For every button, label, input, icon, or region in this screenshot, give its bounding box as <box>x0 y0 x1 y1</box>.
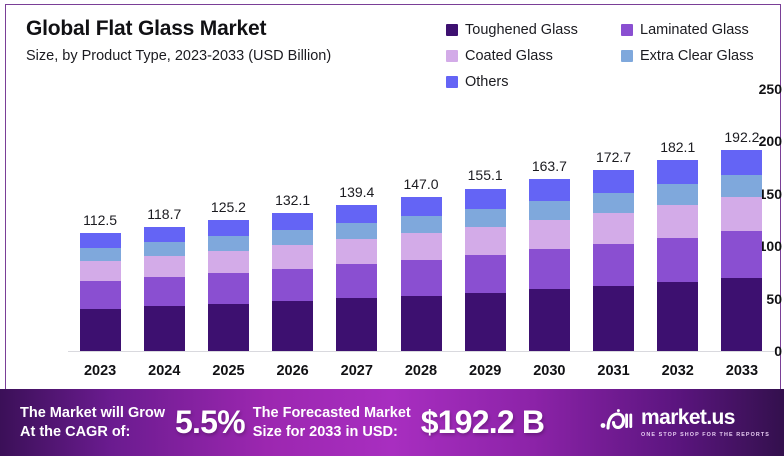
bar-segment-4 <box>336 205 377 223</box>
bar-segment-0 <box>144 306 185 351</box>
x-axis-tick-2032: 2032 <box>646 363 710 379</box>
bar-segment-0 <box>336 298 377 351</box>
bar-segment-2 <box>336 239 377 264</box>
bar-group-2028[interactable]: 147.0 <box>401 197 442 351</box>
x-axis-tick-2026: 2026 <box>261 363 325 379</box>
bar-group-2033[interactable]: 192.2 <box>721 150 762 351</box>
market-us-logo-text: market.us <box>641 406 735 429</box>
x-axis-tick-2033: 2033 <box>710 363 774 379</box>
chart-screenshot: Global Flat Glass Market Size, by Produc… <box>0 0 784 456</box>
bar-segment-1 <box>401 260 442 296</box>
bar-segment-2 <box>657 205 698 237</box>
bar-stack <box>80 233 121 351</box>
bar-segment-4 <box>529 179 570 201</box>
bar-group-2026[interactable]: 132.1 <box>272 213 313 351</box>
bar-stack <box>721 150 762 351</box>
bar-total-label: 163.7 <box>532 158 567 174</box>
bar-segment-1 <box>721 231 762 278</box>
bar-total-label: 139.4 <box>339 184 374 200</box>
x-axis-tick-2024: 2024 <box>132 363 196 379</box>
x-axis-line <box>68 351 774 352</box>
bar-group-2025[interactable]: 125.2 <box>208 220 249 351</box>
bar-stack <box>144 227 185 351</box>
bar-stack <box>593 170 634 351</box>
bar-segment-0 <box>721 278 762 351</box>
bar-segment-3 <box>529 201 570 220</box>
bar-segment-1 <box>657 238 698 283</box>
bar-total-label: 112.5 <box>83 212 117 228</box>
market-us-logo[interactable]: market.us ONE STOP SHOP FOR THE REPORTS <box>599 407 770 438</box>
x-axis-tick-2028: 2028 <box>389 363 453 379</box>
bar-group-2031[interactable]: 172.7 <box>593 170 634 351</box>
bar-segment-2 <box>593 213 634 244</box>
bar-total-label: 125.2 <box>211 199 246 215</box>
bar-segment-0 <box>593 286 634 351</box>
bar-segment-1 <box>144 277 185 306</box>
plot-area: 050100150200250 112.5118.7125.2132.1139.… <box>6 5 782 389</box>
footer-banner: The Market will Grow At the CAGR of: 5.5… <box>0 389 784 456</box>
bar-segment-3 <box>80 248 121 261</box>
bar-total-label: 192.2 <box>724 129 759 145</box>
bar-group-2023[interactable]: 112.5 <box>80 233 121 351</box>
market-us-logo-textblock: market.us ONE STOP SHOP FOR THE REPORTS <box>641 407 770 438</box>
bar-segment-4 <box>657 160 698 184</box>
bar-group-2024[interactable]: 118.7 <box>144 227 185 351</box>
bar-segment-4 <box>721 150 762 175</box>
bar-segment-4 <box>272 213 313 230</box>
bar-segment-1 <box>272 269 313 301</box>
bar-segment-4 <box>401 197 442 216</box>
x-axis-tick-2025: 2025 <box>196 363 260 379</box>
bar-segment-1 <box>80 281 121 309</box>
bar-segment-3 <box>272 230 313 245</box>
bar-group-2027[interactable]: 139.4 <box>336 205 377 351</box>
bar-segment-4 <box>208 220 249 236</box>
bar-segment-3 <box>401 216 442 233</box>
bar-segment-2 <box>80 261 121 281</box>
bar-segment-2 <box>465 227 506 255</box>
forecast-value: $192.2 B <box>421 404 544 441</box>
cagr-label-line2: At the CAGR of: <box>20 423 165 442</box>
bar-segment-2 <box>721 197 762 231</box>
bar-segment-1 <box>336 264 377 298</box>
bar-segment-0 <box>80 309 121 351</box>
bar-segment-1 <box>465 255 506 293</box>
bar-segment-2 <box>401 233 442 259</box>
forecast-label-line2: Size for 2033 in USD: <box>253 423 411 442</box>
bar-segment-4 <box>80 233 121 248</box>
market-us-logo-tagline: ONE STOP SHOP FOR THE REPORTS <box>641 432 770 438</box>
bar-segment-2 <box>208 251 249 273</box>
bar-segment-2 <box>529 220 570 249</box>
bar-segment-3 <box>657 184 698 205</box>
bar-stack <box>657 160 698 351</box>
bar-segment-2 <box>144 256 185 277</box>
x-axis-tick-2023: 2023 <box>68 363 132 379</box>
bar-stack <box>401 197 442 351</box>
bar-segment-0 <box>208 304 249 351</box>
bar-segment-2 <box>272 245 313 269</box>
bar-stack <box>272 213 313 351</box>
bar-segment-0 <box>529 289 570 351</box>
bar-segment-1 <box>208 273 249 304</box>
bar-segment-0 <box>401 296 442 351</box>
bar-total-label: 132.1 <box>275 192 310 208</box>
bar-segment-0 <box>657 282 698 351</box>
bar-total-label: 155.1 <box>468 167 503 183</box>
cagr-value: 5.5% <box>175 404 245 441</box>
x-axis-tick-2030: 2030 <box>517 363 581 379</box>
bar-total-label: 147.0 <box>403 176 438 192</box>
x-axis-tick-2027: 2027 <box>325 363 389 379</box>
bar-group-2032[interactable]: 182.1 <box>657 160 698 351</box>
cagr-label: The Market will Grow At the CAGR of: <box>20 404 165 442</box>
bar-segment-3 <box>593 193 634 213</box>
chart-card: Global Flat Glass Market Size, by Produc… <box>5 4 781 389</box>
bar-stack <box>336 205 377 351</box>
bar-total-label: 172.7 <box>596 149 631 165</box>
bar-group-2030[interactable]: 163.7 <box>529 179 570 351</box>
cagr-label-line1: The Market will Grow <box>20 404 165 423</box>
market-us-logo-icon <box>599 407 633 438</box>
x-axis-tick-2029: 2029 <box>453 363 517 379</box>
bar-segment-3 <box>336 223 377 239</box>
bar-stack <box>465 188 506 351</box>
bar-total-label: 182.1 <box>660 139 695 155</box>
bar-segment-3 <box>721 175 762 197</box>
x-axis-tick-2031: 2031 <box>581 363 645 379</box>
bar-segment-3 <box>144 242 185 256</box>
bar-stack <box>529 179 570 351</box>
bar-segment-0 <box>465 293 506 351</box>
bar-segment-3 <box>465 209 506 227</box>
bar-segment-4 <box>465 189 506 209</box>
bar-segment-4 <box>144 227 185 243</box>
bar-segment-1 <box>593 244 634 286</box>
bar-stack <box>208 220 249 351</box>
bar-segment-4 <box>593 170 634 193</box>
bar-segment-3 <box>208 236 249 250</box>
bar-segment-1 <box>529 249 570 289</box>
forecast-label: The Forecasted Market Size for 2033 in U… <box>253 404 411 442</box>
forecast-label-line1: The Forecasted Market <box>253 404 411 423</box>
bar-group-2029[interactable]: 155.1 <box>465 188 506 351</box>
bar-total-label: 118.7 <box>147 206 181 222</box>
y-axis-tick-250: 250 <box>730 81 782 97</box>
bar-segment-0 <box>272 301 313 351</box>
